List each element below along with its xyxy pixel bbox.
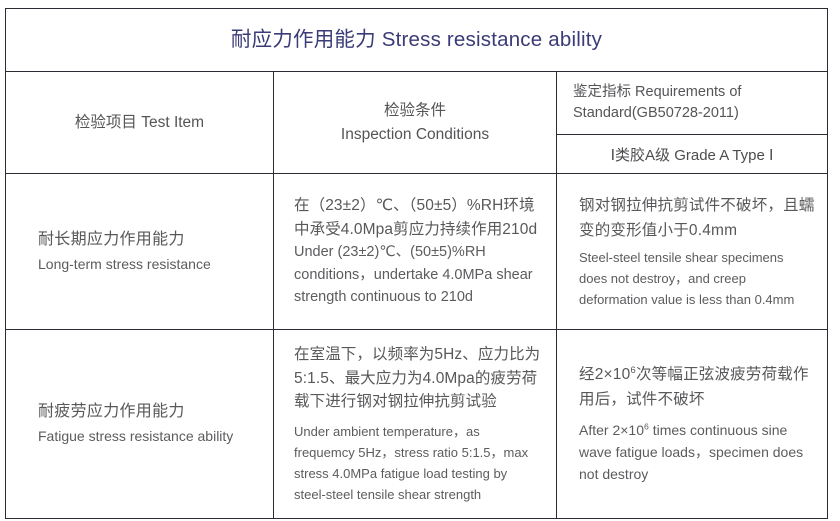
row-2-requirement-cn: 经2×106次等幅正弦波疲劳荷载作用后，试件不破坏 [579,362,815,412]
table-title-cell: 耐应力作用能力 Stress resistance ability [6,9,828,72]
header-requirements-standard-label: 鉴定指标 Requirements of Standard(GB50728-20… [557,82,827,124]
row-2-condition-en: Under ambient temperature，as frequemcy 5… [294,421,542,505]
header-requirements-grade-row: Ⅰ类胶A级 Grade A Type Ⅰ [557,135,827,174]
row-2-requirement-en-pre: After 2×10 [579,422,644,438]
table-row: 耐长期应力作用能力 Long-term stress resistance 在（… [6,174,828,330]
row-1-test-item-en: Long-term stress resistance [38,253,261,275]
row-2-test-item-cell: 耐疲劳应力作用能力 Fatigue stress resistance abil… [6,330,274,519]
row-1-condition-cn: 在（23±2）℃、（50±5）%RH环境中承受4.0Mpa剪应力持续作用210d [294,194,542,241]
header-cell-requirements: 鉴定指标 Requirements of Standard(GB50728-20… [557,72,828,174]
row-1-test-item-block: 耐长期应力作用能力 Long-term stress resistance [6,228,273,275]
row-2-requirement-en: After 2×106 times continuous sine wave f… [579,419,815,486]
row-2-test-item-en: Fatigue stress resistance ability [38,425,261,447]
row-2-condition-cell: 在室温下，以频率为5Hz、应力比为5:1.5、最大应力为4.0Mpa的疲劳荷载下… [274,330,557,519]
table-header-row: 检验项目 Test Item 检验条件 Inspection Condition… [6,72,828,174]
row-2-requirement-cn-pre: 经2×10 [579,366,630,383]
header-cell-inspection-conditions: 检验条件 Inspection Conditions [274,72,557,174]
header-cell-test-item: 检验项目 Test Item [6,72,274,174]
header-test-item-label: 检验项目 Test Item [6,111,273,134]
row-1-requirement-cell: 钢对钢拉伸抗剪试件不破坏，且蠕变的变形值小于0.4mm Steel-steel … [557,174,828,330]
stress-resistance-table: 耐应力作用能力 Stress resistance ability 检验项目 T… [5,8,828,519]
row-2-condition-cn: 在室温下，以频率为5Hz、应力比为5:1.5、最大应力为4.0Mpa的疲劳荷载下… [294,343,542,414]
header-requirements-standard-row: 鉴定指标 Requirements of Standard(GB50728-20… [557,72,827,135]
header-inspection-conditions-cn: 检验条件 [384,102,446,119]
row-1-condition-block: 在（23±2）℃、（50±5）%RH环境中承受4.0Mpa剪应力持续作用210d… [274,194,556,309]
row-1-condition-en: Under (23±2)℃、(50±5)%RH conditions，under… [294,241,542,308]
row-2-test-item-block: 耐疲劳应力作用能力 Fatigue stress resistance abil… [6,400,273,447]
header-inspection-conditions-block: 检验条件 Inspection Conditions [274,99,556,146]
row-1-requirement-cn: 钢对钢拉伸抗剪试件不破坏，且蠕变的变形值小于0.4mm [579,193,815,243]
table-row: 耐疲劳应力作用能力 Fatigue stress resistance abil… [6,330,828,519]
header-requirements-standard-cell: 鉴定指标 Requirements of Standard(GB50728-20… [557,72,827,135]
row-1-condition-cell: 在（23±2）℃、（50±5）%RH环境中承受4.0Mpa剪应力持续作用210d… [274,174,557,330]
row-1-requirement-en: Steel-steel tensile shear specimens does… [579,248,815,310]
row-2-requirement-cell: 经2×106次等幅正弦波疲劳荷载作用后，试件不破坏 After 2×106 ti… [557,330,828,519]
page-title: 耐应力作用能力 Stress resistance ability [6,28,827,53]
row-2-test-item-cn: 耐疲劳应力作用能力 [38,400,261,425]
header-requirements-grade-label: Ⅰ类胶A级 Grade A Type Ⅰ [557,144,827,165]
row-1-test-item-cn: 耐长期应力作用能力 [38,228,261,253]
row-2-requirement-block: 经2×106次等幅正弦波疲劳荷载作用后，试件不破坏 After 2×106 ti… [557,362,827,485]
table-title-row: 耐应力作用能力 Stress resistance ability [6,9,828,72]
header-requirements-grade-cell: Ⅰ类胶A级 Grade A Type Ⅰ [557,135,827,174]
header-requirements-subtable: 鉴定指标 Requirements of Standard(GB50728-20… [557,72,827,173]
row-2-condition-block: 在室温下，以频率为5Hz、应力比为5:1.5、最大应力为4.0Mpa的疲劳荷载下… [274,343,556,505]
row-1-test-item-cell: 耐长期应力作用能力 Long-term stress resistance [6,174,274,330]
spec-table-page: 耐应力作用能力 Stress resistance ability 检验项目 T… [0,0,840,521]
header-inspection-conditions-en: Inspection Conditions [284,123,546,146]
row-1-requirement-block: 钢对钢拉伸抗剪试件不破坏，且蠕变的变形值小于0.4mm Steel-steel … [557,193,827,311]
